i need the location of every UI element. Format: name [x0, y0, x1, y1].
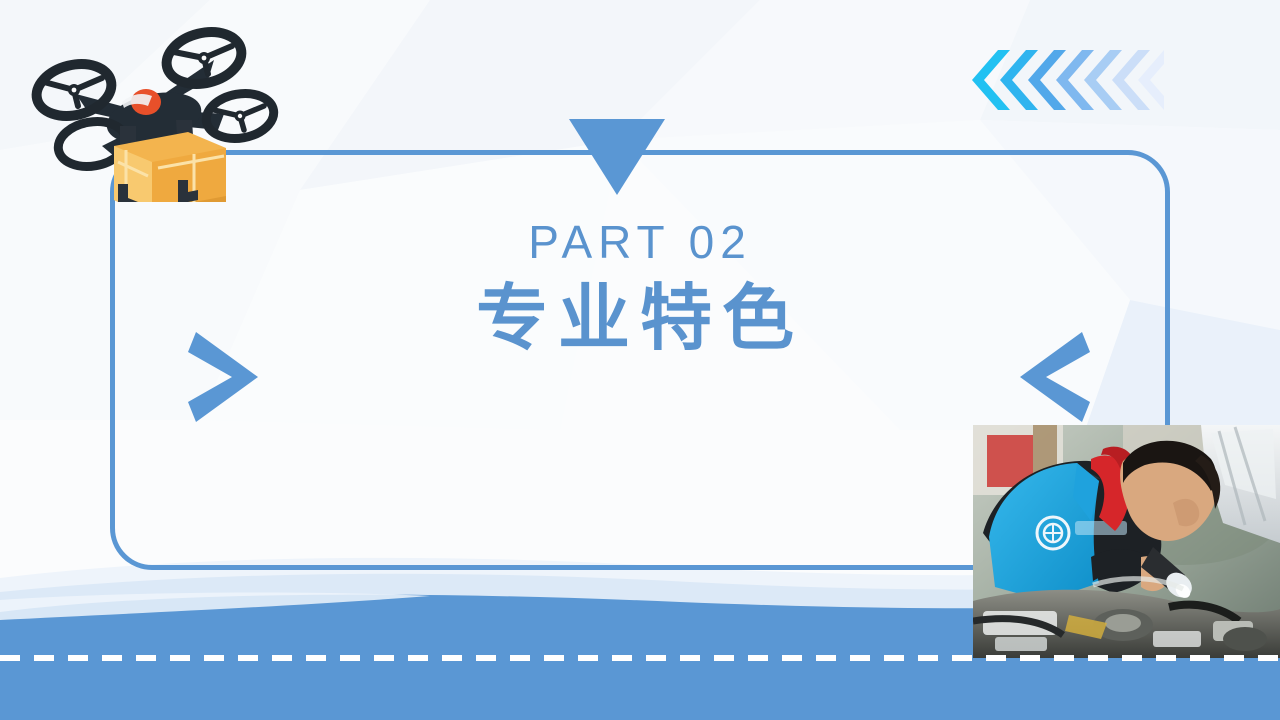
drone-rotor-top-right — [161, 25, 247, 92]
slide-canvas: PART 02 专业特色 — [0, 0, 1280, 720]
dashed-road-line — [0, 655, 1280, 661]
page-title: 专业特色 — [0, 280, 1280, 359]
mechanic-engine-inspection-photo — [973, 425, 1280, 658]
part-label: PART 02 — [0, 218, 1280, 266]
photo-content — [973, 425, 1280, 658]
chevron-gradient-strip — [968, 50, 1164, 110]
title-block: PART 02 专业特色 — [0, 218, 1280, 359]
delivery-drone-illustration — [18, 22, 280, 202]
triangle-down-marker — [569, 119, 665, 195]
